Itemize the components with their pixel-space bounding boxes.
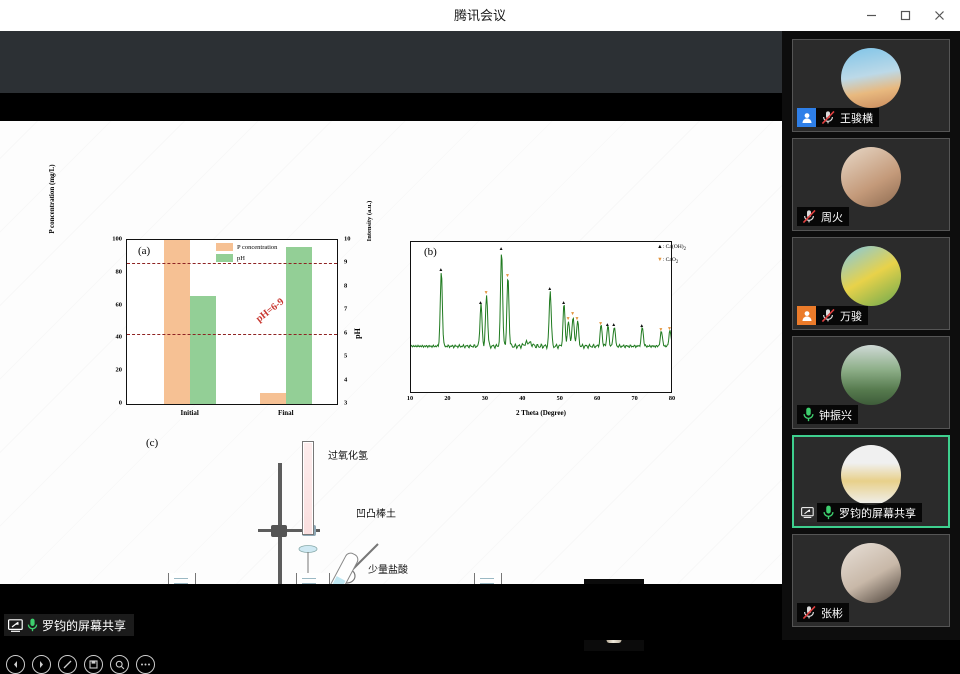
figure-a-x-tick-labels: InitialFinal [127,409,337,423]
close-icon[interactable] [922,0,956,31]
figure-c-panel-label: (c) [146,437,158,449]
figure-b-legend: ▲: Ca(OH)2 ▼: CaO2 [657,242,686,268]
y2-tick: 5 [344,353,347,360]
x-tick-20: 20 [444,395,450,402]
x-tick-final: Final [278,409,294,417]
figure-a-y-axis-label: P concentration (mg/L) [48,139,56,259]
participant-name: 王骏横 [840,110,873,126]
avatar [841,543,901,603]
participant-name: 周火 [821,209,843,225]
x-tick-70: 70 [631,395,637,402]
avatar [841,246,901,306]
figure-b-plot-area: ▲▲▼▲▼▲▲▼▼▼▼▲▲▲▼▼ [410,241,672,393]
burette [302,441,314,535]
avatar [841,445,901,505]
mic-muted-icon [802,209,817,224]
avatar [841,345,901,405]
peak-marker-caoh2-18.1: ▲ [438,268,443,273]
maximize-icon[interactable] [888,0,922,31]
y-tick: 80 [116,268,123,275]
minimize-icon[interactable] [854,0,888,31]
participant-tile-6[interactable]: 张彬 [792,534,950,627]
figure-b-panel-label: (b) [424,246,437,258]
bar-ph-initial [190,296,216,404]
peak-marker-cao2-76.9: ▼ [658,328,663,333]
peak-marker-caoh2-50.9: ▲ [561,301,566,306]
peak-marker-caoh2-28.7: ▲ [478,301,483,306]
mic-on-icon [822,505,835,520]
window-title: 腾讯会议 [0,0,960,31]
share-badge [798,503,817,522]
x-tick-50: 50 [557,395,563,402]
y2-tick: 7 [344,306,347,313]
legend-label-ph: pH [237,255,245,262]
previous-page-icon[interactable] [6,655,25,674]
figure-b-x-axis-label: 2 Theta (Degree) [410,409,672,417]
mic-on-icon [802,407,815,422]
participant-name: 张彬 [821,605,843,621]
y-tick: 100 [112,236,122,243]
screen-share-icon [801,507,814,518]
person-icon [801,112,813,124]
label-hydrochloric-acid: 少量盐酸 [368,561,408,576]
stage-letterbox-top [0,31,782,93]
bar-ph-final [286,247,312,404]
shared-document[interactable]: P concentration (mg/L) pH 020406080100 3… [0,121,782,584]
pdf-viewer-toolbar[interactable] [6,655,155,674]
person-icon [801,310,813,322]
legend-entry-cao2: ▼: CaO2 [657,255,686,268]
participant-tile-3[interactable]: 万骏 [792,237,950,330]
legend-entry-caoh2: ▲: Ca(OH)2 [657,242,686,255]
figure-a-bar-chart: P concentration (mg/L) pH 020406080100 3… [84,233,374,429]
y-tick: 60 [116,301,123,308]
screen-share-icon [8,619,23,632]
peak-marker-caoh2-47.2: ▲ [547,287,552,292]
save-icon[interactable] [84,655,103,674]
pen-annotate-icon[interactable] [58,655,77,674]
next-page-icon[interactable] [32,655,51,674]
participant-nameplate: 张彬 [797,603,849,622]
share-status-label: 罗钧的屏幕共享 [42,617,126,634]
participant-tile-2[interactable]: 周火 [792,138,950,231]
y-tick: 0 [119,400,122,407]
peak-marker-cao2-60.8: ▼ [598,322,603,327]
xrd-trace [411,255,672,349]
x-tick-60: 60 [594,395,600,402]
participant-tile-5[interactable]: 罗钧的屏幕共享 [792,435,950,528]
legend-swatch-ph [216,254,233,262]
mic-muted-icon [821,308,836,323]
x-tick-10: 10 [407,395,413,402]
share-status-chip[interactable]: 罗钧的屏幕共享 [4,614,134,636]
avatar [841,147,901,207]
zoom-search-icon[interactable] [110,655,129,674]
mic-muted-icon [821,110,836,125]
reference-line-ph-6 [127,334,337,335]
x-tick-40: 40 [519,395,525,402]
participant-nameplate: 王骏横 [797,108,879,127]
y2-tick: 10 [344,236,351,243]
reference-line-ph-9 [127,263,337,264]
peak-marker-caoh2-34.2: ▲ [499,247,504,252]
participant-nameplate: 罗钧的屏幕共享 [798,503,922,522]
label-attapulgite: 凹凸棒土 [356,505,396,520]
avatar [841,48,901,108]
screen-share-status-bar: 罗钧的屏幕共享 [0,610,782,640]
participant-name: 万骏 [840,308,862,324]
figure-b-y-axis-label: Intensity (a.u.) [366,171,373,271]
figure-b-xrd-chart: Intensity (a.u.) ▲▲▼▲▼▲▲▼▼▼▼▲▲▲▼▼ (b) ▲:… [392,237,692,427]
figure-a-legend: P concentration pH [216,243,277,265]
legend-swatch-p [216,243,233,251]
window-controls [854,0,956,31]
x-tick-initial: Initial [181,409,199,417]
peak-marker-caoh2-71.8: ▲ [639,324,644,329]
participant-nameplate: 万骏 [797,306,868,325]
participant-nameplate: 钟振兴 [797,405,858,424]
peak-marker-cao2-52.1: ▼ [566,317,571,322]
bar-p-concentration-initial [164,240,190,404]
mic-on-icon [27,618,38,632]
person-badge [797,108,816,127]
figure-b-x-tick-labels: 1020304050607080 [410,395,672,405]
peak-marker-caoh2-64.3: ▲ [611,323,616,328]
peak-marker-caoh2-62.6: ▲ [605,323,610,328]
participant-rail[interactable]: 王骏横 周火 万骏 钟振兴 罗钧的屏幕共享 张彬 [782,31,960,640]
participant-tile-1[interactable]: 王骏横 [792,39,950,132]
legend-label-p: P concentration [237,244,277,251]
participant-name: 钟振兴 [819,407,852,423]
tencent-meeting-window: 腾讯会议 P concentration (mg/L) pH 020406080… [0,0,960,640]
peak-marker-cao2-54.5: ▼ [575,317,580,322]
participant-name: 罗钧的屏幕共享 [839,505,916,521]
shared-screen-stage[interactable]: P concentration (mg/L) pH 020406080100 3… [0,31,782,640]
y2-tick: 8 [344,282,347,289]
peak-marker-cao2-79.2: ▼ [667,327,672,332]
y2-tick: 6 [344,329,347,336]
figure-a-y-ticks: 020406080100 [92,239,122,405]
xrd-curve [411,242,672,393]
y2-tick: 9 [344,259,347,266]
person-badge [797,306,816,325]
bar-p-concentration-final [260,393,286,404]
mic-muted-icon [802,605,817,620]
label-hydrogen-peroxide: 过氧化氢 [328,447,368,462]
title-bar: 腾讯会议 [0,0,960,32]
peak-marker-cao2-30.2: ▼ [484,291,489,296]
participant-tile-4[interactable]: 钟振兴 [792,336,950,429]
stage-black-band-bottom [0,584,782,610]
y-tick: 20 [116,367,123,374]
x-tick-80: 80 [669,395,675,402]
participant-nameplate: 周火 [797,207,849,226]
y2-tick: 3 [344,400,347,407]
peak-marker-cao2-35.9: ▼ [505,274,510,279]
y2-tick: 4 [344,376,347,383]
stage-black-band-top [0,93,782,121]
more-options-icon[interactable] [136,655,155,674]
x-tick-30: 30 [482,395,488,402]
y-tick: 40 [116,334,123,341]
